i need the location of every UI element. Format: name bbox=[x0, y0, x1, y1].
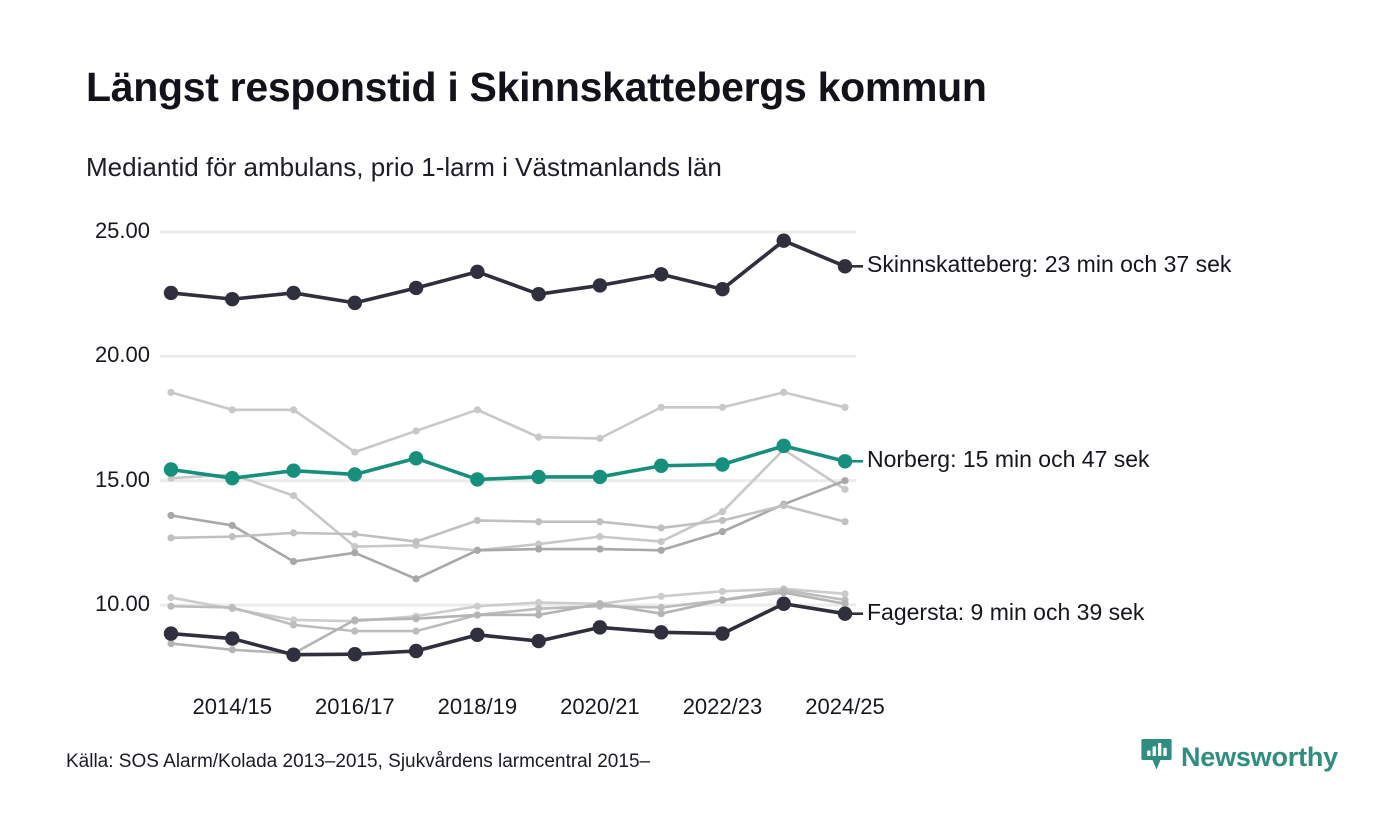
logo-glyph bbox=[1141, 738, 1172, 771]
data-point bbox=[654, 459, 668, 473]
data-point bbox=[348, 296, 362, 310]
data-point bbox=[719, 528, 726, 535]
y-axis-tick-20-00: 20.00 bbox=[40, 342, 150, 368]
data-point bbox=[470, 628, 484, 642]
series-background-background-5 bbox=[167, 585, 848, 625]
data-point bbox=[164, 462, 178, 476]
data-point bbox=[290, 621, 297, 628]
x-axis-tick-2014-15: 2014/15 bbox=[193, 694, 273, 720]
x-axis-tick-2020-21: 2020/21 bbox=[560, 694, 640, 720]
data-point bbox=[167, 640, 174, 647]
data-point bbox=[838, 259, 852, 273]
data-point bbox=[351, 628, 358, 635]
data-point bbox=[658, 538, 665, 545]
data-point bbox=[290, 558, 297, 565]
series-background-background-7 bbox=[167, 589, 848, 657]
data-point bbox=[658, 593, 665, 600]
data-point bbox=[593, 470, 607, 484]
series-label-norberg: Norberg: 15 min och 47 sek bbox=[867, 446, 1150, 473]
data-point bbox=[535, 605, 542, 612]
data-point bbox=[535, 540, 542, 547]
data-point bbox=[658, 524, 665, 531]
data-point bbox=[841, 590, 848, 597]
data-point bbox=[593, 620, 607, 634]
data-point bbox=[290, 529, 297, 536]
series-background-background-1 bbox=[167, 389, 848, 456]
grid-lines bbox=[160, 232, 856, 605]
data-point bbox=[719, 508, 726, 515]
data-point bbox=[596, 603, 603, 610]
data-point bbox=[596, 533, 603, 540]
series-highlight-skinnskatteberg bbox=[164, 234, 852, 311]
data-point bbox=[409, 644, 423, 658]
x-axis-tick-2022-23: 2022/23 bbox=[683, 694, 763, 720]
data-point bbox=[167, 475, 174, 482]
series-line bbox=[171, 481, 845, 579]
data-point bbox=[841, 486, 848, 493]
data-point bbox=[412, 542, 419, 549]
series-line bbox=[171, 450, 845, 551]
data-point bbox=[164, 286, 178, 300]
data-point bbox=[841, 518, 848, 525]
data-point bbox=[777, 439, 791, 453]
data-point bbox=[474, 611, 481, 618]
x-axis-tick-2016-17: 2016/17 bbox=[315, 694, 395, 720]
series-line bbox=[171, 604, 845, 655]
data-point bbox=[351, 618, 358, 625]
data-point bbox=[841, 596, 848, 603]
newsworthy-bar-chart-bubble-icon bbox=[1141, 738, 1172, 776]
data-point bbox=[412, 575, 419, 582]
data-point bbox=[596, 600, 603, 607]
data-point bbox=[474, 547, 481, 554]
data-point bbox=[229, 646, 236, 653]
data-point bbox=[780, 585, 787, 592]
data-point bbox=[409, 451, 423, 465]
data-point bbox=[351, 543, 358, 550]
data-point bbox=[351, 448, 358, 455]
data-point bbox=[535, 611, 542, 618]
data-point bbox=[719, 517, 726, 524]
data-point bbox=[225, 631, 239, 645]
series-label-fagersta: Fagersta: 9 min och 39 sek bbox=[867, 599, 1144, 626]
series-line bbox=[171, 590, 845, 631]
data-point bbox=[719, 404, 726, 411]
data-point bbox=[229, 406, 236, 413]
logo-wordmark: Newsworthy bbox=[1181, 742, 1338, 773]
data-point bbox=[593, 278, 607, 292]
data-point bbox=[348, 647, 362, 661]
chart-page: Längst responstid i Skinnskattebergs kom… bbox=[0, 0, 1400, 840]
data-point bbox=[777, 234, 791, 248]
data-point bbox=[229, 533, 236, 540]
data-point bbox=[412, 538, 419, 545]
data-point bbox=[719, 596, 726, 603]
data-point bbox=[412, 628, 419, 635]
data-point bbox=[290, 406, 297, 413]
data-point bbox=[229, 605, 236, 612]
series-highlight-fagersta bbox=[164, 597, 852, 662]
data-point bbox=[715, 282, 729, 296]
data-point bbox=[658, 547, 665, 554]
data-point bbox=[658, 404, 665, 411]
x-axis-tick-2024-25: 2024/25 bbox=[805, 694, 885, 720]
x-axis-tick-2018-19: 2018/19 bbox=[438, 694, 518, 720]
data-point bbox=[719, 588, 726, 595]
data-point bbox=[531, 470, 545, 484]
page-title: Längst responstid i Skinnskattebergs kom… bbox=[86, 64, 987, 111]
data-point bbox=[474, 547, 481, 554]
data-point bbox=[229, 604, 236, 611]
data-point bbox=[719, 596, 726, 603]
data-point bbox=[229, 471, 236, 478]
data-point bbox=[780, 446, 787, 453]
y-axis-tick-25-00: 25.00 bbox=[40, 218, 150, 244]
data-point bbox=[164, 626, 178, 640]
data-point bbox=[474, 517, 481, 524]
data-point bbox=[167, 594, 174, 601]
data-point bbox=[780, 389, 787, 396]
data-point bbox=[351, 549, 358, 556]
data-point bbox=[348, 467, 362, 481]
data-point bbox=[286, 648, 300, 662]
data-point bbox=[777, 597, 791, 611]
series-line bbox=[171, 241, 845, 303]
data-point bbox=[841, 600, 848, 607]
data-point bbox=[596, 518, 603, 525]
source-note: Källa: SOS Alarm/Kolada 2013–2015, Sjukv… bbox=[66, 751, 650, 773]
data-point bbox=[531, 287, 545, 301]
data-point bbox=[474, 406, 481, 413]
series-background-background-2 bbox=[167, 446, 848, 554]
series-line bbox=[171, 392, 845, 452]
data-point bbox=[412, 427, 419, 434]
data-point bbox=[225, 471, 239, 485]
data-point bbox=[715, 457, 729, 471]
data-point bbox=[780, 589, 787, 596]
data-point bbox=[474, 611, 481, 618]
data-point bbox=[780, 586, 787, 593]
page-subtitle: Mediantid för ambulans, prio 1-larm i Vä… bbox=[86, 152, 722, 183]
data-point bbox=[167, 603, 174, 610]
series-label-skinnskatteberg: Skinnskatteberg: 23 min och 37 sek bbox=[867, 251, 1231, 278]
data-point bbox=[780, 502, 787, 509]
y-axis-tick-10-00: 10.00 bbox=[40, 591, 150, 617]
data-point bbox=[167, 512, 174, 519]
newsworthy-logo: Newsworthy bbox=[1141, 738, 1338, 776]
data-point bbox=[535, 545, 542, 552]
series-line bbox=[171, 593, 845, 654]
data-point bbox=[290, 616, 297, 623]
data-point bbox=[290, 650, 297, 657]
data-point bbox=[412, 613, 419, 620]
data-point bbox=[841, 477, 848, 484]
data-point bbox=[654, 625, 668, 639]
data-point bbox=[229, 522, 236, 529]
data-point bbox=[715, 626, 729, 640]
data-point bbox=[535, 518, 542, 525]
data-point bbox=[531, 634, 545, 648]
data-point bbox=[658, 604, 665, 611]
data-point bbox=[351, 616, 358, 623]
data-point bbox=[535, 434, 542, 441]
series-background-background-4 bbox=[167, 502, 848, 545]
series-background-background-3 bbox=[167, 477, 848, 582]
data-point bbox=[780, 501, 787, 508]
data-point bbox=[167, 389, 174, 396]
data-point bbox=[658, 610, 665, 617]
y-axis-tick-15-00: 15.00 bbox=[40, 467, 150, 493]
series-line bbox=[171, 506, 845, 542]
data-point bbox=[474, 603, 481, 610]
series-line bbox=[171, 446, 845, 480]
data-point bbox=[470, 472, 484, 486]
data-point bbox=[838, 607, 852, 621]
data-point bbox=[596, 545, 603, 552]
data-point bbox=[596, 600, 603, 607]
series-highlight-norberg bbox=[164, 439, 852, 487]
data-point bbox=[470, 265, 484, 279]
data-point bbox=[841, 404, 848, 411]
series-line bbox=[171, 589, 845, 621]
data-point bbox=[409, 281, 423, 295]
data-point bbox=[286, 464, 300, 478]
data-point bbox=[225, 292, 239, 306]
series-background-background-6 bbox=[167, 586, 848, 634]
data-point bbox=[535, 599, 542, 606]
data-point bbox=[167, 534, 174, 541]
data-point bbox=[654, 267, 668, 281]
data-point bbox=[838, 454, 852, 468]
data-point bbox=[286, 286, 300, 300]
data-point bbox=[596, 435, 603, 442]
data-point bbox=[290, 492, 297, 499]
data-point bbox=[412, 615, 419, 622]
data-point bbox=[351, 531, 358, 538]
